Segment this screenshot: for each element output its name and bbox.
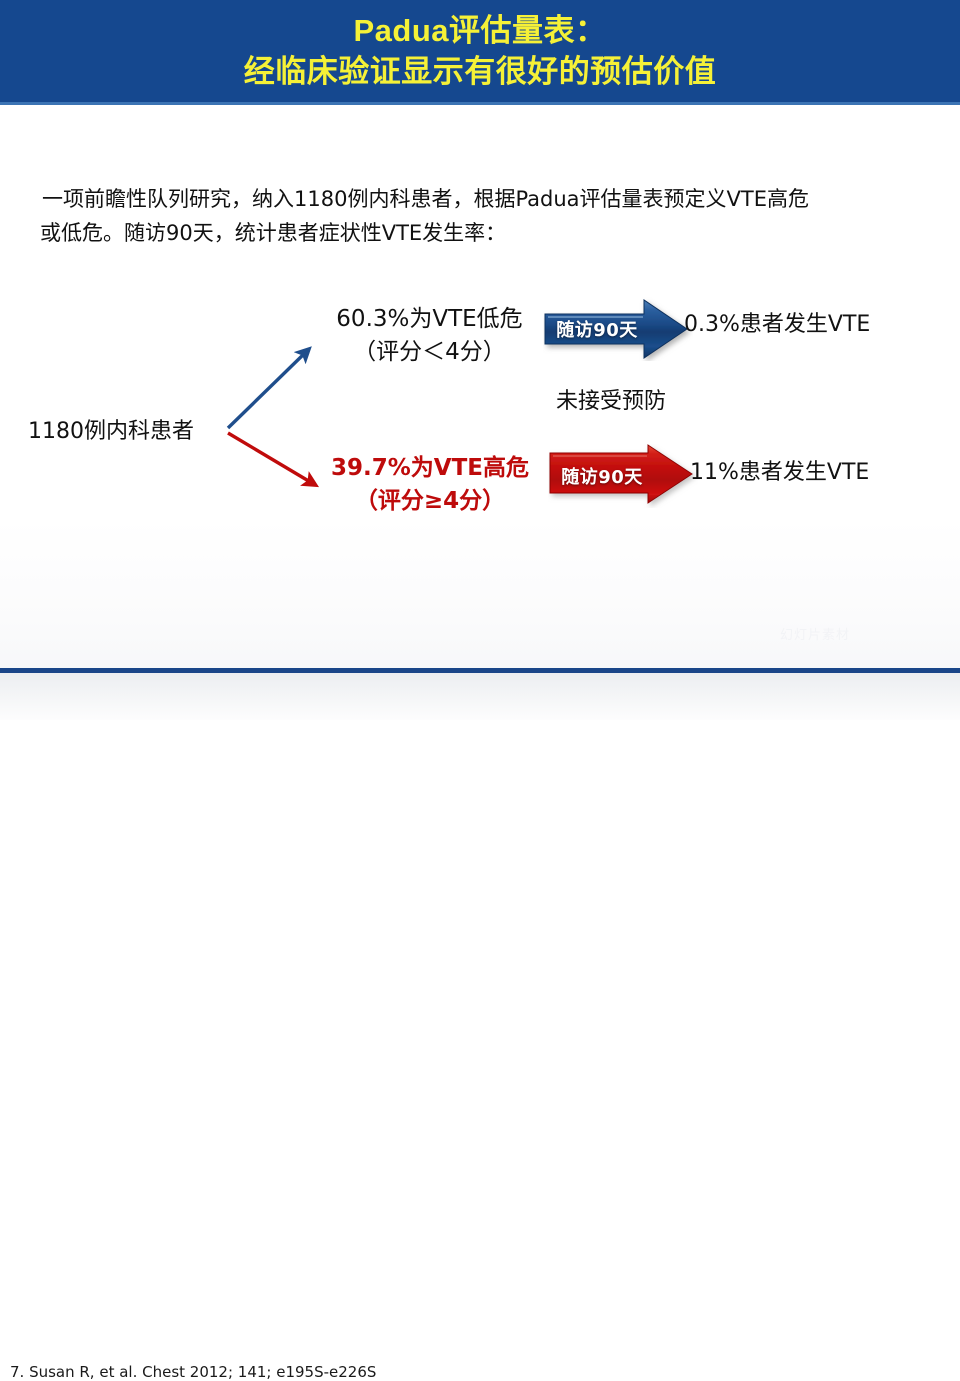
low-risk-text-block: 60.3%为VTE低危 （评分＜4分）	[322, 303, 537, 369]
followup-arrow-high-risk: 随访90天	[548, 444, 698, 508]
intro-paragraph: 一项前瞻性队列研究，纳入1180例内科患者，根据Padua评估量表预定义VTE高…	[42, 182, 922, 250]
red-arrow-shape	[550, 445, 692, 503]
low-risk-line-1: 60.3%为VTE低危	[336, 306, 522, 332]
footer-citation: 7. Susan R, et al. Chest 2012; 141; e195…	[10, 1363, 376, 1381]
header-banner: Padua评估量表： 经临床验证显示有很好的预估价值	[0, 0, 960, 105]
cohort-source-label: 1180例内科患者	[28, 413, 194, 445]
followup-arrow-low-risk: 随访90天	[543, 297, 693, 361]
watermark: 幻灯片素材	[780, 624, 850, 643]
page-title-line2: 经临床验证显示有很好的预估价值	[0, 51, 960, 92]
intro-line-1: 一项前瞻性队列研究，纳入1180例内科患者，根据Padua评估量表预定义VTE高…	[42, 187, 809, 211]
slide-canvas: Padua评估量表： 经临床验证显示有很好的预估价值 一项前瞻性队列研究，纳入1…	[0, 0, 960, 720]
high-risk-text-block: 39.7%为VTE高危 （评分≥4分）	[320, 452, 540, 518]
low-risk-outcome: 0.3%患者发生VTE	[684, 306, 870, 338]
high-risk-line-2: （评分≥4分）	[320, 485, 540, 518]
blue-arrow-shape	[545, 300, 687, 358]
high-risk-outcome: 11%患者发生VTE	[690, 454, 869, 486]
high-risk-line-1: 39.7%为VTE高危	[331, 455, 529, 481]
intro-line-2: 或低危。随访90天，统计患者症状性VTE发生率：	[40, 216, 922, 250]
branch-arrow-low-risk	[228, 352, 306, 428]
no-prophylaxis-note: 未接受预防	[556, 383, 666, 415]
footer-area: 7. Susan R, et al. Chest 2012; 141; e195…	[0, 673, 960, 720]
page-title-line1: Padua评估量表：	[353, 13, 606, 48]
branch-arrow-high-risk	[228, 433, 312, 483]
low-risk-line-2: （评分＜4分）	[322, 336, 537, 369]
page-title: Padua评估量表： 经临床验证显示有很好的预估价值	[0, 10, 960, 92]
